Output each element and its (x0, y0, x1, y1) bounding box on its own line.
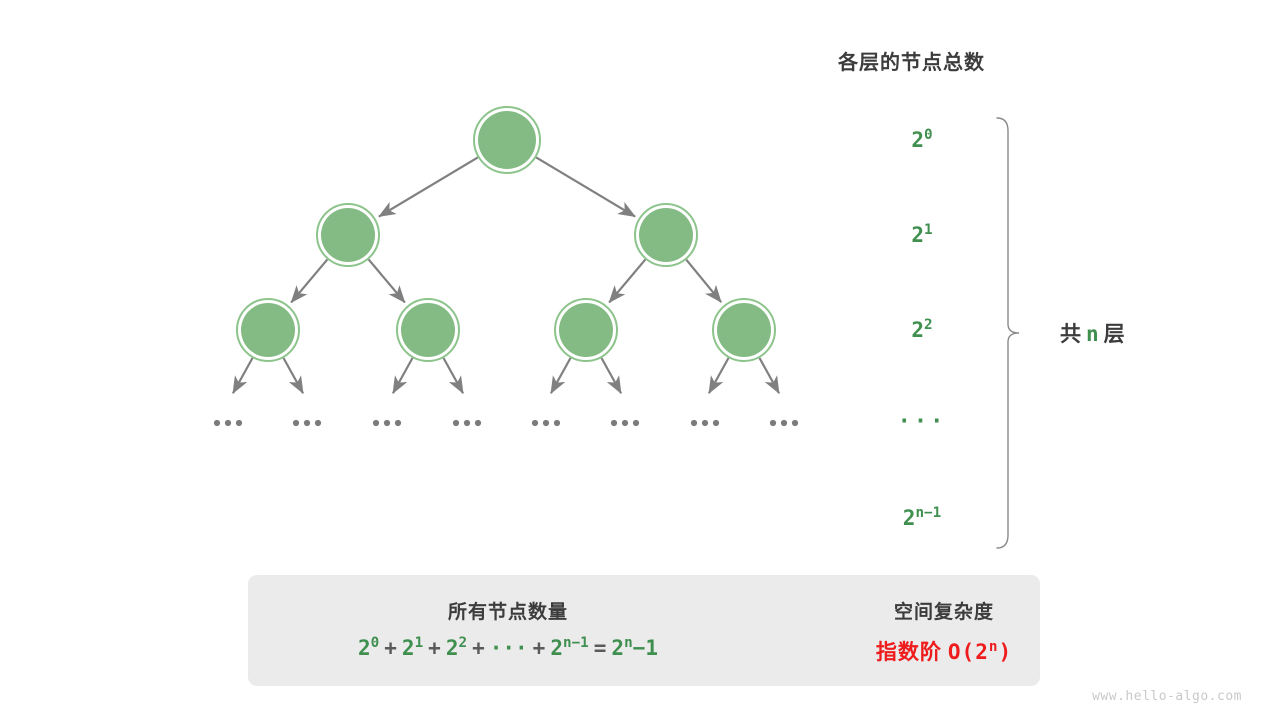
term-base: 2 (402, 636, 415, 660)
total-levels-suffix: 层 (1104, 323, 1126, 346)
tree-node-ring (474, 107, 540, 173)
formula-plus: + (379, 636, 402, 660)
formula-plus: + (423, 636, 446, 660)
ellipsis-dot (633, 420, 639, 426)
tree-nodes (237, 107, 775, 361)
level-label-exponent: n−1 (915, 505, 941, 521)
ellipsis-dot (702, 420, 708, 426)
space-complexity-value: 指数阶O(2n) (848, 636, 1040, 666)
term-base: 2 (446, 636, 459, 660)
total-levels-caption: 共n层 (1060, 318, 1126, 348)
tree-edge (536, 157, 635, 216)
tree-node (478, 111, 536, 169)
summary-left-section: 所有节点数量 20+21+22+···+2n−1=2n−1 (248, 575, 768, 686)
tree-node (321, 208, 375, 262)
tree-node-ring (713, 299, 775, 361)
level-label-2: 22 (911, 318, 932, 342)
ellipsis-dot (532, 420, 538, 426)
complexity-order-label: 指数阶 (876, 641, 942, 664)
tree-edge (609, 259, 645, 302)
node-count-formula: 20+21+22+···+2n−1=2n−1 (248, 636, 768, 660)
term-exponent: 1 (415, 635, 424, 651)
all-nodes-title: 所有节点数量 (248, 597, 768, 624)
term-exponent: 0 (371, 635, 380, 651)
tree-edge (233, 358, 253, 393)
formula-result: 2n−1 (611, 636, 658, 660)
tree-edge (369, 259, 405, 302)
level-label-exponent: 2 (924, 317, 933, 333)
ellipsis-dot (543, 420, 549, 426)
ellipsis-dot (293, 420, 299, 426)
result-exponent: n (624, 635, 633, 651)
formula-equals: = (589, 636, 612, 660)
complexity-bigo: O(2n) (942, 640, 1012, 664)
site-watermark: www.hello-algo.com (1092, 689, 1242, 704)
tree-edges (233, 157, 779, 393)
formula-term-0: 20 (358, 636, 379, 660)
ellipsis-dot (792, 420, 798, 426)
ellipsis-dot (453, 420, 459, 426)
ellipsis-dot (781, 420, 787, 426)
level-label-base: 2 (903, 506, 916, 530)
ellipsis-dot (214, 420, 220, 426)
level-label-1: 21 (911, 223, 932, 247)
term-exponent: n−1 (563, 635, 589, 651)
formula-term-1: 21 (402, 636, 423, 660)
ellipsis-dot (622, 420, 628, 426)
ellipsis-dot (713, 420, 719, 426)
level-label-ellipsis: ··· (898, 410, 947, 435)
ellipsis-dot (384, 420, 390, 426)
tree-edge (709, 358, 729, 393)
formula-term-2: 22 (446, 636, 467, 660)
tree-ellipsis-dots (214, 420, 798, 426)
total-levels-variable: n (1082, 322, 1104, 346)
ellipsis-dot (225, 420, 231, 426)
tree-edge (393, 358, 413, 393)
level-label-base: 2 (911, 128, 924, 152)
space-complexity-title: 空间复杂度 (848, 597, 1040, 624)
ellipsis-dot (373, 420, 379, 426)
tree-node (401, 303, 455, 357)
tree-edge (551, 358, 571, 393)
diagram-canvas: 各层的节点总数 202122···2n−1 共n层 所有节点数量 20+21+2… (0, 0, 1280, 720)
summary-panel: 所有节点数量 20+21+22+···+2n−1=2n−1 空间复杂度 指数阶O… (248, 575, 1040, 686)
ellipsis-dot (395, 420, 401, 426)
level-label-base: 2 (911, 318, 924, 342)
tree-node-ring (397, 299, 459, 361)
level-label-exponent: 1 (924, 222, 933, 238)
level-label-0: 20 (911, 128, 932, 152)
summary-right-section: 空间复杂度 指数阶O(2n) (848, 575, 1040, 686)
level-label-base: 2 (911, 223, 924, 247)
result-tail: −1 (633, 636, 658, 660)
tree-node-ring (237, 299, 299, 361)
term-exponent: 2 (458, 635, 467, 651)
ellipsis-dot (554, 420, 560, 426)
ellipsis-dot (464, 420, 470, 426)
formula-plus: + (528, 636, 551, 660)
tree-node (559, 303, 613, 357)
tree-node-ring (635, 204, 697, 266)
formula-term-4: 2n−1 (550, 636, 588, 660)
result-base: 2 (611, 636, 624, 660)
tree-edge (284, 358, 304, 393)
tree-node (717, 303, 771, 357)
term-base: 2 (358, 636, 371, 660)
ellipsis-dot (315, 420, 321, 426)
level-label-exponent: 0 (924, 127, 933, 143)
tree-node-ring (555, 299, 617, 361)
tree-edge (379, 157, 478, 216)
formula-term-3: ··· (490, 636, 528, 660)
tree-node-ring (317, 204, 379, 266)
ellipsis-dot (611, 420, 617, 426)
ellipsis-dot (691, 420, 697, 426)
ellipsis-dot (475, 420, 481, 426)
total-levels-prefix: 共 (1060, 323, 1082, 346)
tree-node (241, 303, 295, 357)
level-label-4: 2n−1 (903, 506, 941, 530)
tree-edge (444, 358, 464, 393)
levels-heading: 各层的节点总数 (838, 46, 1038, 75)
ellipsis-dot (304, 420, 310, 426)
ellipsis-dot (770, 420, 776, 426)
term-base: 2 (550, 636, 563, 660)
ellipsis-dot (236, 420, 242, 426)
formula-plus: + (467, 636, 490, 660)
tree-edge (686, 260, 721, 302)
tree-edge (291, 259, 327, 302)
tree-edge (602, 358, 622, 393)
tree-edge (760, 358, 780, 393)
tree-node (639, 208, 693, 262)
brace-path (997, 118, 1019, 548)
